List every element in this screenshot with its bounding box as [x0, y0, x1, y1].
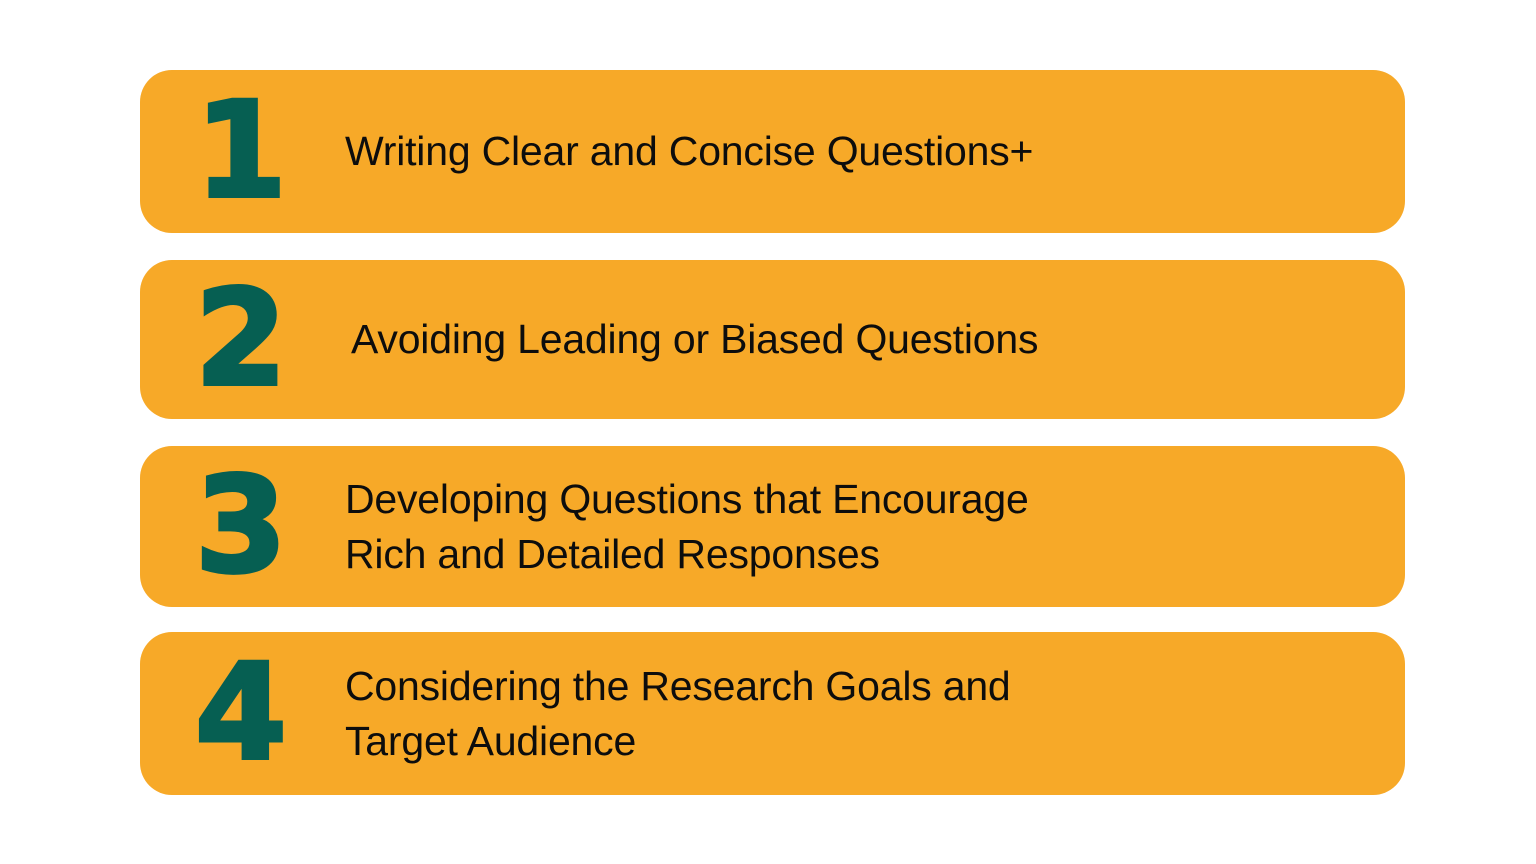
step-row[interactable]: 4 Considering the Research Goals and Tar…: [140, 632, 1405, 795]
steps-infographic: 1 Writing Clear and Concise Questions+ 2…: [0, 0, 1536, 864]
step-label-1: Writing Clear and Concise Questions+: [345, 124, 1405, 179]
step-row[interactable]: 2 Avoiding Leading or Biased Questions: [140, 260, 1405, 419]
step-label-2: Avoiding Leading or Biased Questions: [345, 312, 1405, 367]
step-number-2: 2: [140, 279, 345, 400]
step-label-3: Developing Questions that Encourage Rich…: [345, 472, 1405, 581]
step-row[interactable]: 1 Writing Clear and Concise Questions+: [140, 70, 1405, 233]
step-number-4: 4: [140, 653, 345, 774]
step-label-4: Considering the Research Goals and Targe…: [345, 659, 1405, 768]
step-number-3: 3: [140, 466, 345, 587]
step-number-1: 1: [140, 91, 345, 212]
step-row[interactable]: 3 Developing Questions that Encourage Ri…: [140, 446, 1405, 607]
